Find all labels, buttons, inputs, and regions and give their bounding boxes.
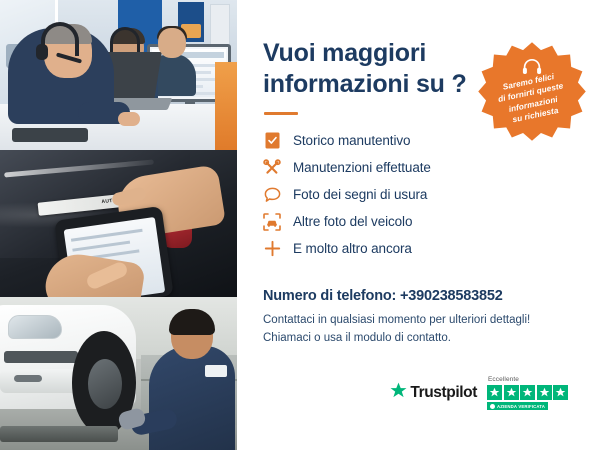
plus-icon: [263, 240, 281, 258]
car-rim: [88, 359, 122, 409]
rating-star: [553, 385, 568, 400]
verified-label: AZIENDA VERIFICATA: [497, 404, 545, 409]
vehicle-lift: [0, 426, 118, 442]
list-item: E molto altro ancora: [263, 235, 576, 262]
headline-line-1: Vuoi maggiori: [263, 39, 426, 67]
verified-check-icon: [490, 404, 495, 409]
vehicle-inspection-photo: AUTO1: [0, 150, 237, 297]
car-headlight: [8, 315, 62, 339]
phone-subtext: Contattaci in qualsiasi momento per ulte…: [263, 312, 576, 348]
page-title: Vuoi maggiori informazioni su ?: [263, 38, 473, 100]
trustpilot-rating: Eccellente: [487, 376, 568, 410]
orange-equipment: [215, 62, 237, 150]
agent-one-hand: [118, 112, 140, 126]
list-item-label: Manutenzioni effettuate: [293, 160, 431, 175]
agent-three-head: [158, 28, 186, 58]
title-divider: [264, 112, 298, 115]
tablet-line: [72, 241, 130, 252]
phone-subtext-line-2: Chiamaci o usa il modulo di contatto.: [263, 332, 451, 344]
trustpilot-star-icon: [390, 382, 407, 404]
rating-star: [487, 385, 502, 400]
phone-subtext-line-1: Contattaci in qualsiasi momento per ulte…: [263, 314, 530, 326]
photo-column: AUTO1: [0, 0, 237, 450]
tablet-line: [71, 229, 143, 242]
list-item-label: Altre foto del veicolo: [293, 214, 412, 229]
phone-block: Numero di telefono: +390238583852 Contat…: [263, 288, 576, 348]
mechanic-uniform-badge: [205, 365, 227, 377]
car-foglight: [14, 375, 42, 382]
keyboard: [12, 128, 88, 142]
list-item: Foto dei segni di usura: [263, 181, 576, 208]
rating-label: Eccellente: [488, 376, 519, 383]
list-item-label: Storico manutentivo: [293, 133, 410, 148]
status-badge: Saremo felici di fornirti queste informa…: [476, 40, 588, 152]
list-item-label: Foto dei segni di usura: [293, 187, 427, 202]
list-item: Manutenzioni effettuate: [263, 154, 576, 181]
rating-star: [520, 385, 535, 400]
advertisement-banner: AUTO1: [0, 0, 600, 450]
verified-badge: AZIENDA VERIFICATA: [487, 402, 548, 410]
mechanic-body: [149, 346, 235, 450]
content-panel: Vuoi maggiori informazioni su ? Storico …: [237, 0, 600, 450]
wheel-service-photo: [0, 297, 237, 450]
agent-two-headset: [110, 27, 140, 53]
trustpilot-widget[interactable]: Trustpilot Eccellente: [390, 376, 568, 410]
headline-line-2: informazioni su ?: [263, 70, 467, 98]
list-item-label: E molto altro ancora: [293, 241, 412, 256]
speech-bubble-icon: [263, 186, 281, 204]
list-item: Altre foto del veicolo: [263, 208, 576, 235]
rating-star: [537, 385, 552, 400]
trustpilot-wordmark: Trustpilot: [410, 384, 477, 402]
tools-cross-icon: [263, 159, 281, 177]
phone-number[interactable]: Numero di telefono: +390238583852: [263, 288, 576, 304]
car-grille: [4, 351, 78, 363]
call-center-photo: [0, 0, 237, 150]
car-frame-icon: [263, 213, 281, 231]
trustpilot-logo: Trustpilot: [390, 382, 477, 404]
agent-one-earpad: [36, 44, 48, 60]
star-rating: [487, 385, 568, 400]
rating-star: [504, 385, 519, 400]
clipboard-check-icon: [263, 132, 281, 150]
